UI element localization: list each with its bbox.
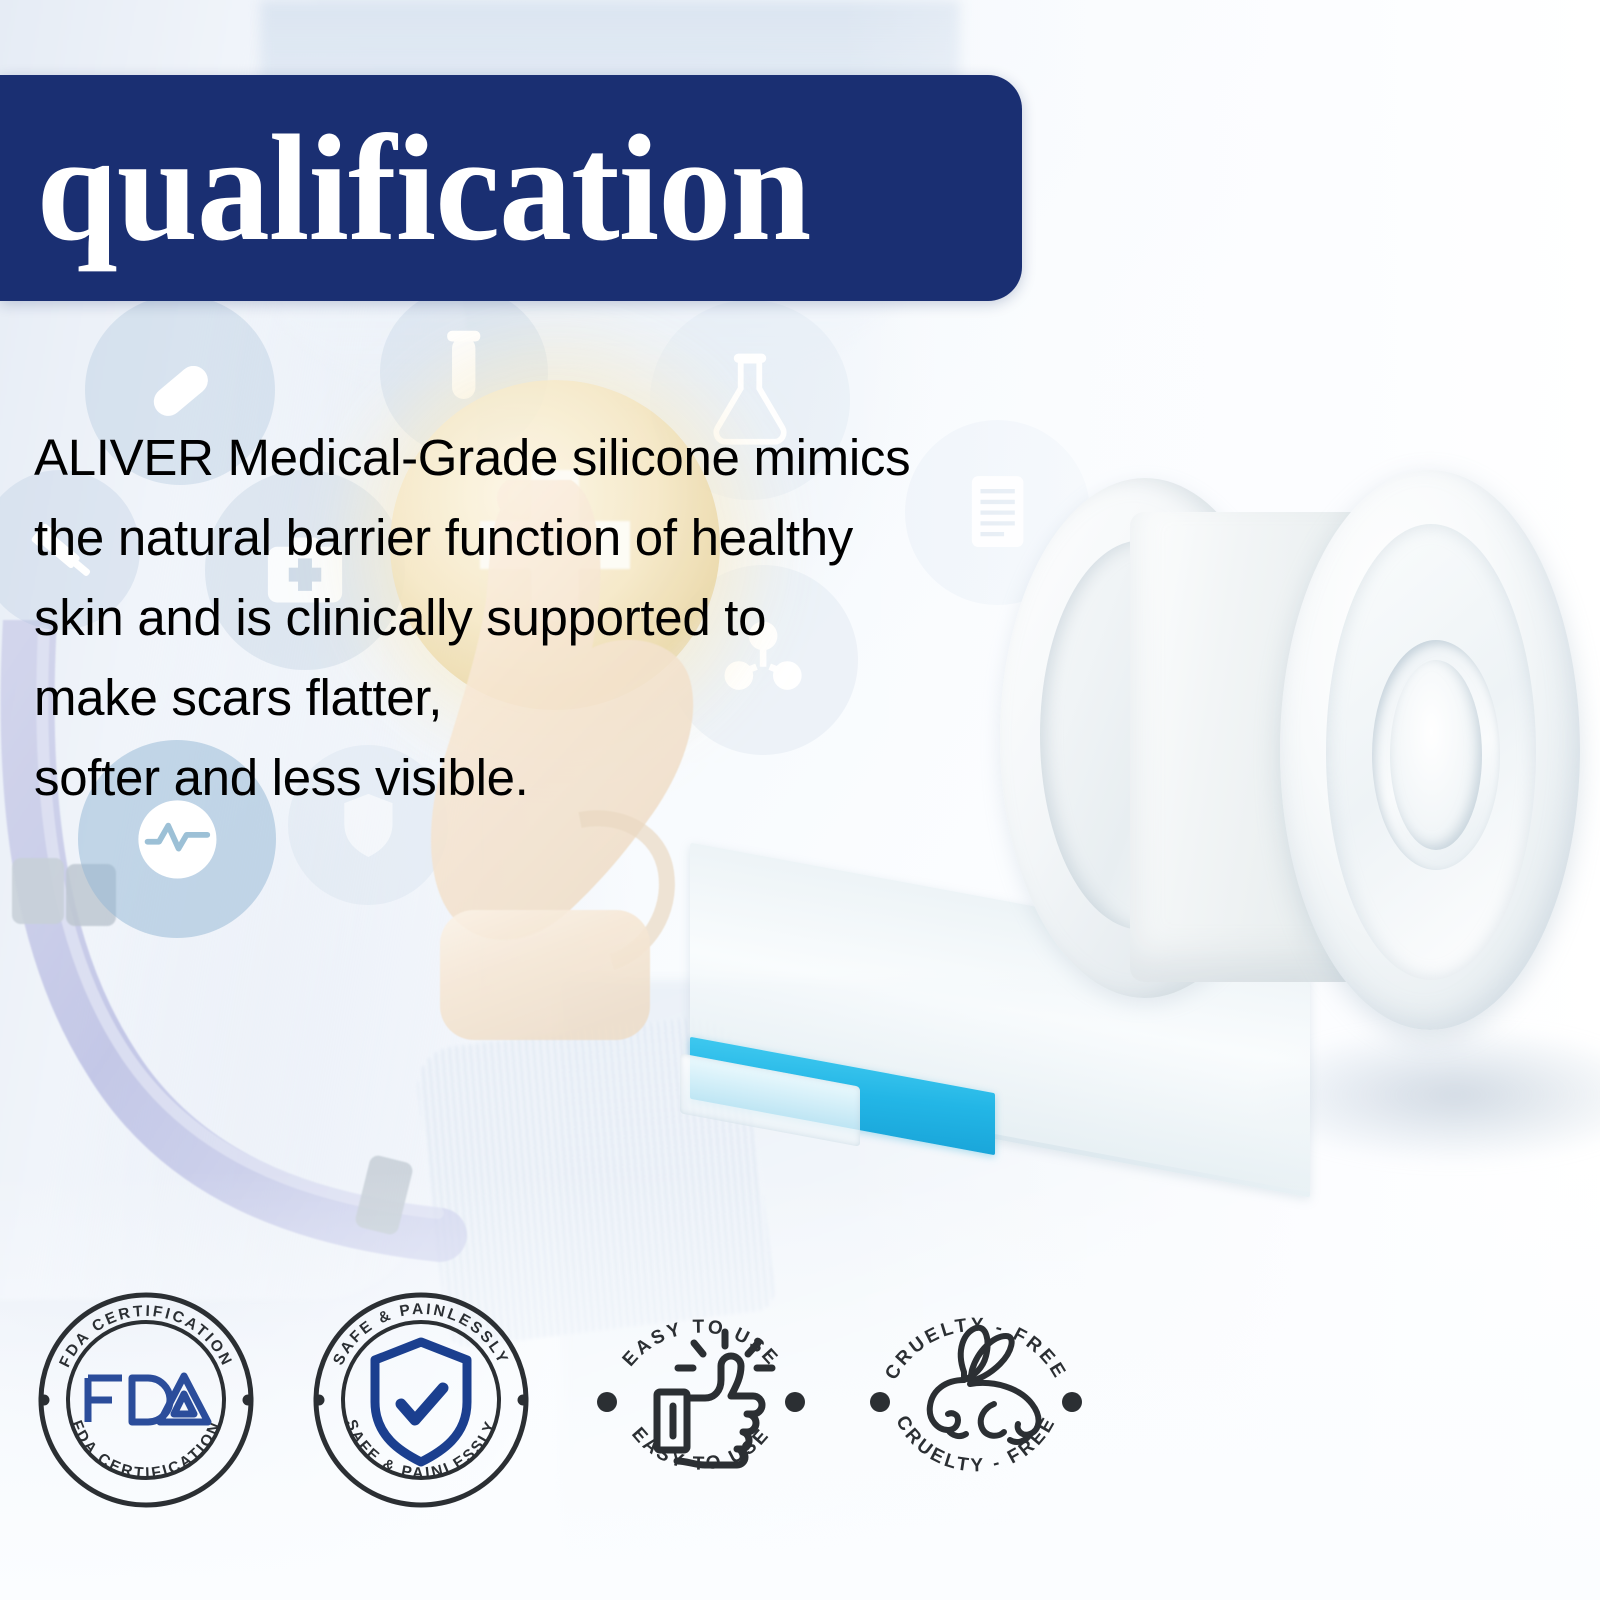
title-banner: qualification — [0, 75, 1022, 301]
badge-easy-to-use: EASY TO USE EASY TO USE — [585, 1284, 817, 1516]
badge-safe-painlessly: SAFE & PAINLESSLY SAFE & PAINLESSLY — [305, 1284, 537, 1516]
description-line-5: softer and less visible. — [34, 738, 1044, 818]
badge-fda-certification: FDA CERTIFICATION FDA CERTIFICATION — [30, 1284, 262, 1516]
description-line-4: make scars flatter, — [34, 658, 1044, 738]
badge-safe-bottom-label: SAFE & PAINLESSLY — [342, 1417, 500, 1482]
product-shadow — [1260, 1030, 1600, 1160]
certification-badges-row: FDA CERTIFICATION FDA CERTIFICATION — [0, 1272, 1130, 1542]
spool-center-hole — [1390, 660, 1482, 850]
product-description: ALIVER Medical-Grade silicone mimics the… — [34, 418, 1044, 818]
fda-logo-icon — [88, 1376, 208, 1422]
badge-fda-bottom-label: FDA CERTIFICATION — [67, 1418, 224, 1482]
svg-text:FDA CERTIFICATION: FDA CERTIFICATION — [67, 1418, 224, 1482]
poster-canvas: qualification ALIVER Medical-Grade silic… — [0, 0, 1600, 1600]
badge-cruelty-free: CRUELTY - FREE CRUELTY - FREE — [860, 1284, 1092, 1516]
description-line-1: ALIVER Medical-Grade silicone mimics — [34, 418, 1044, 498]
description-line-3: skin and is clinically supported to — [34, 578, 1044, 658]
product-silicone-tape-roll — [980, 470, 1600, 1250]
description-line-2: the natural barrier function of healthy — [34, 498, 1044, 578]
shield-check-icon — [375, 1342, 467, 1462]
page-title: qualification — [0, 112, 810, 264]
svg-text:CRUELTY - FREE: CRUELTY - FREE — [891, 1412, 1060, 1476]
svg-text:SAFE & PAINLESSLY: SAFE & PAINLESSLY — [342, 1417, 500, 1482]
badge-cruelty-bottom-label: CRUELTY - FREE — [891, 1412, 1060, 1476]
